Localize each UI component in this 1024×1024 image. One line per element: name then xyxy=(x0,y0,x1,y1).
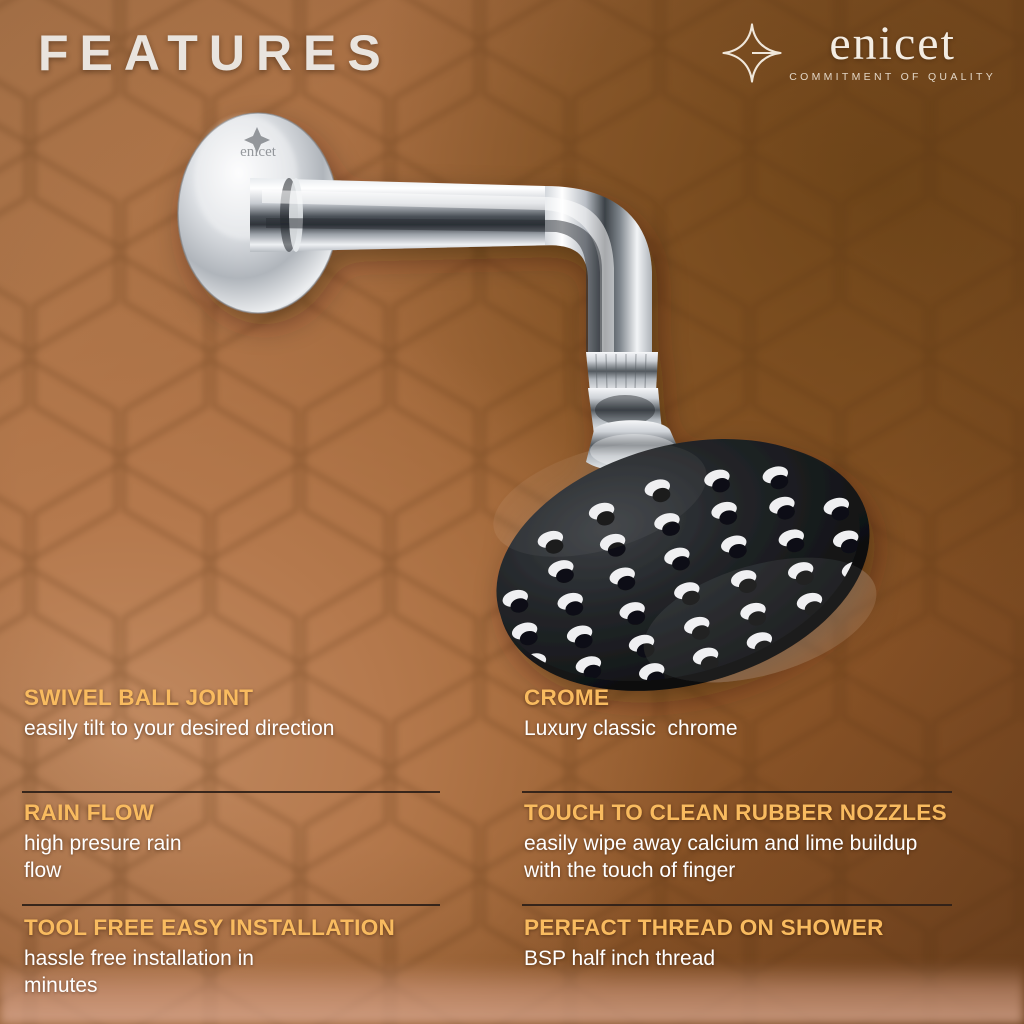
brand-logo: enicet COMMITMENT OF QUALITY xyxy=(721,20,996,84)
feature-divider xyxy=(522,791,952,793)
page-title: FEATURES xyxy=(38,28,392,78)
feature-divider xyxy=(22,904,440,906)
feature-body: BSP half inch thread xyxy=(524,946,1024,973)
feature-item-crome: CROME Luxury classic chrome xyxy=(524,686,1024,743)
feature-heading: RAIN FLOW xyxy=(24,801,512,826)
features-column-right: CROME Luxury classic chrome TOUCH TO CLE… xyxy=(512,686,1024,1024)
feature-item-perfact-thread: PERFACT THREAD ON SHOWER BSP half inch t… xyxy=(524,916,1024,973)
feature-item-swivel-ball-joint: SWIVEL BALL JOINT easily tilt to your de… xyxy=(24,686,512,743)
feature-body: hassle free installation in minutes xyxy=(24,946,324,1000)
feature-body: easily wipe away calcium and lime buildu… xyxy=(524,831,924,885)
brand-tagline: COMMITMENT OF QUALITY xyxy=(789,71,996,83)
feature-item-rubber-nozzles: TOUCH TO CLEAN RUBBER NOZZLES easily wip… xyxy=(524,801,1024,885)
feature-divider xyxy=(522,904,952,906)
diamond-star-icon xyxy=(721,22,783,84)
feature-heading: CROME xyxy=(524,686,1024,711)
feature-heading: TOOL FREE EASY INSTALLATION xyxy=(24,916,512,941)
features-section: SWIVEL BALL JOINT easily tilt to your de… xyxy=(0,686,1024,1024)
features-column-left: SWIVEL BALL JOINT easily tilt to your de… xyxy=(0,686,512,1024)
feature-divider xyxy=(22,791,440,793)
feature-heading: TOUCH TO CLEAN RUBBER NOZZLES xyxy=(524,801,1024,826)
feature-item-tool-free-installation: TOOL FREE EASY INSTALLATION hassle free … xyxy=(24,916,512,1000)
feature-heading: PERFACT THREAD ON SHOWER xyxy=(524,916,1024,941)
brand-name: enicet xyxy=(829,20,956,67)
feature-heading: SWIVEL BALL JOINT xyxy=(24,686,512,711)
feature-item-rain-flow: RAIN FLOW high presure rain flow xyxy=(24,801,512,885)
feature-body: high presure rain flow xyxy=(24,831,214,885)
feature-body: Luxury classic chrome xyxy=(524,716,1024,743)
feature-body: easily tilt to your desired direction xyxy=(24,716,512,743)
feature-poster: FEATURES enicet COMMITMENT OF QUALITY xyxy=(0,0,1024,1024)
